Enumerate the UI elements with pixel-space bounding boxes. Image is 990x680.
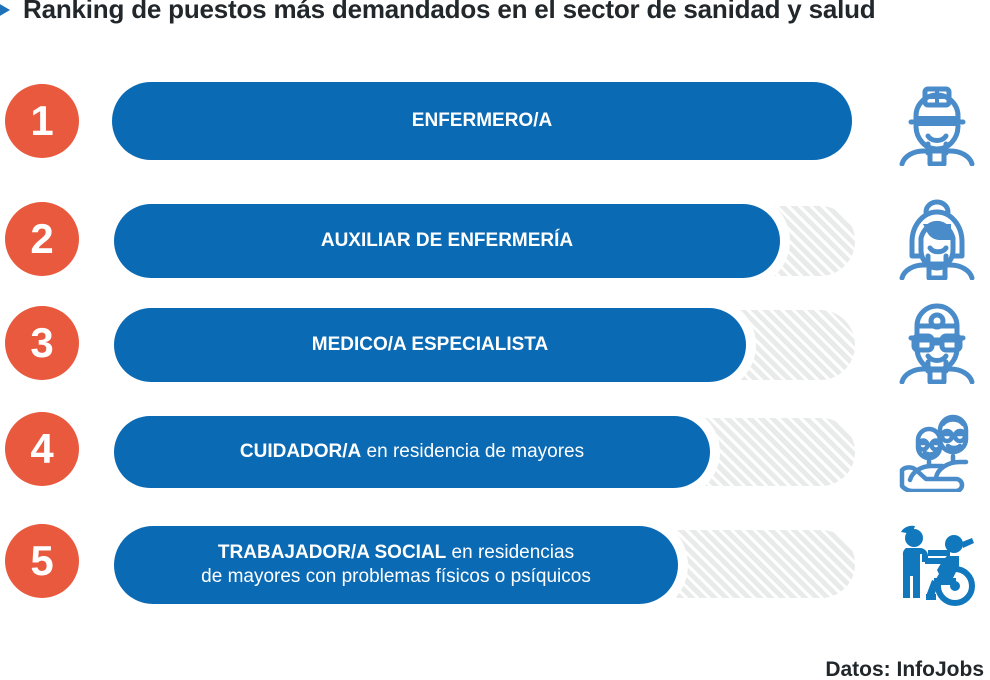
caregiver-elderly-icon: [896, 408, 978, 492]
rank-number: 3: [30, 322, 53, 364]
rank-number: 2: [30, 218, 53, 260]
page-title-bar: Ranking de puestos más demandados en el …: [0, 0, 990, 34]
rank-number: 4: [30, 428, 53, 470]
ranking-list: 1 ENFERMERO/A 2: [0, 78, 990, 622]
bar-label-2: AUXILIAR DE ENFERMERÍA: [307, 229, 587, 253]
bar-4[interactable]: CUIDADOR/A en residencia de mayores: [114, 416, 710, 488]
bar-1[interactable]: ENFERMERO/A: [112, 82, 852, 160]
bar-label-4: CUIDADOR/A en residencia de mayores: [226, 440, 598, 464]
page-title: Ranking de puestos más demandados en el …: [23, 0, 875, 25]
bar-label-3: MEDICO/A ESPECIALISTA: [298, 333, 562, 357]
ranking-row-5[interactable]: 5 TRABAJADOR/A SOCIAL en residencias de …: [0, 506, 990, 622]
ranking-row-4[interactable]: 4 CUIDADOR/A en residencia de mayores: [0, 396, 990, 506]
bar-label-1: ENFERMERO/A: [398, 109, 566, 133]
chevron-right-icon: [0, 0, 18, 21]
rank-badge-4: 4: [5, 412, 79, 486]
ranking-row-3[interactable]: 3 MEDICO/A ESPECIALISTA: [0, 292, 990, 396]
bar-3[interactable]: MEDICO/A ESPECIALISTA: [114, 308, 746, 382]
doctor-specialist-icon: [898, 300, 976, 384]
social-worker-wheelchair-icon: [892, 520, 980, 606]
nurse-assistant-icon: [898, 196, 976, 280]
rank-badge-1: 1: [5, 84, 79, 158]
rank-badge-3: 3: [5, 306, 79, 380]
source-note: Datos: InfoJobs: [825, 658, 984, 680]
bar-label-5: TRABAJADOR/A SOCIAL en residencias de ma…: [187, 541, 605, 589]
ranking-row-2[interactable]: 2 AUXILIAR DE ENFERMERÍA: [0, 188, 990, 292]
ranking-row-1[interactable]: 1 ENFERMERO/A: [0, 78, 990, 188]
rank-number: 1: [30, 100, 53, 142]
rank-number: 5: [30, 540, 53, 582]
nurse-with-cap-icon: [898, 86, 976, 166]
rank-badge-5: 5: [5, 524, 79, 598]
bar-5[interactable]: TRABAJADOR/A SOCIAL en residencias de ma…: [114, 526, 678, 604]
rank-badge-2: 2: [5, 202, 79, 276]
bar-2[interactable]: AUXILIAR DE ENFERMERÍA: [114, 204, 780, 278]
